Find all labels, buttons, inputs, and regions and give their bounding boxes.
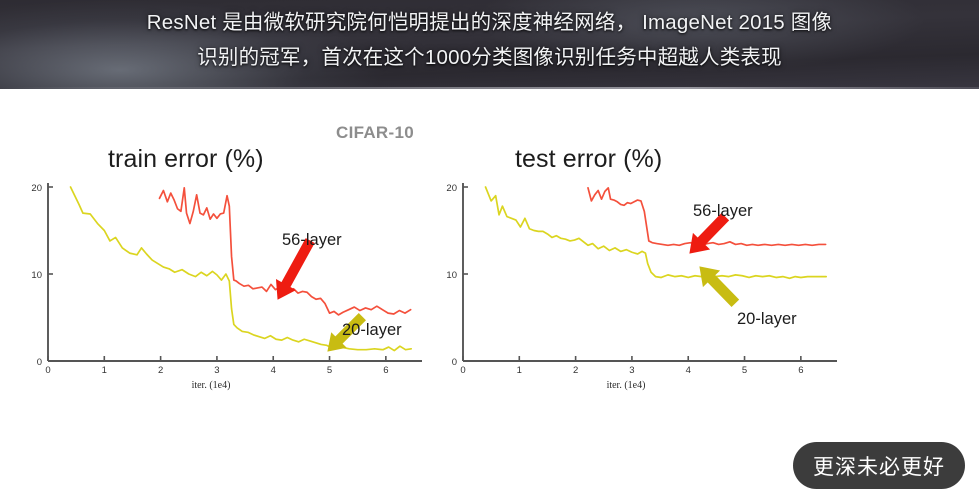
note-pill: 更深未必更好 [793,442,965,489]
note-pill-label: 更深未必更好 [813,451,945,481]
series-label-20-layer: 20-layer [342,321,402,340]
plot-test-error: 010200123456iter. (1e4) [425,175,845,405]
y-tick-label: 20 [446,183,457,194]
series-label-20-layer: 20-layer [737,310,797,329]
x-tick-label: 3 [629,365,634,376]
x-tick-label: 5 [327,365,332,376]
x-tick-label: 0 [460,365,465,376]
chart-panel-test-error: test error (%) 010200123456iter. (1e4) 5… [425,89,845,427]
x-tick-label: 3 [214,365,219,376]
x-tick-label: 4 [686,365,691,376]
slide-body: CIFAR-10 train error (%) 010200123456ite… [0,89,979,427]
x-tick-label: 5 [742,365,747,376]
arrow-20-layer [700,267,738,306]
series-label-56-layer: 56-layer [693,202,753,221]
x-axis-title: iter. (1e4) [607,380,646,391]
y-tick-label: 20 [31,183,42,194]
chart-title-test-error: test error (%) [515,145,662,174]
x-tick-label: 2 [573,365,578,376]
y-tick-label: 0 [452,357,457,368]
subtitle-band: ResNet 是由微软研究院何恺明提出的深度神经网络， ImageNet 201… [0,0,979,89]
subtitle-line-2: 识别的冠军，首次在这个1000分类图像识别任务中超越人类表现 [0,40,979,70]
series-label-56-layer: 56-layer [282,231,342,250]
x-tick-label: 1 [517,365,522,376]
y-tick-label: 0 [37,357,42,368]
series-line-20-layer [486,187,827,278]
x-tick-label: 1 [102,365,107,376]
x-tick-label: 2 [158,365,163,376]
chart-title-train-error: train error (%) [108,145,264,174]
x-tick-label: 6 [798,365,803,376]
y-tick-label: 10 [446,270,457,281]
x-axis-title: iter. (1e4) [192,380,231,391]
subtitle-line-1: ResNet 是由微软研究院何恺明提出的深度神经网络， ImageNet 201… [0,5,979,35]
y-tick-label: 10 [31,270,42,281]
chart-panel-train-error: train error (%) 010200123456iter. (1e4) … [10,89,430,427]
x-tick-label: 0 [45,365,50,376]
x-tick-label: 6 [383,365,388,376]
plot-train-error: 010200123456iter. (1e4) [10,175,430,405]
x-tick-label: 4 [271,365,276,376]
